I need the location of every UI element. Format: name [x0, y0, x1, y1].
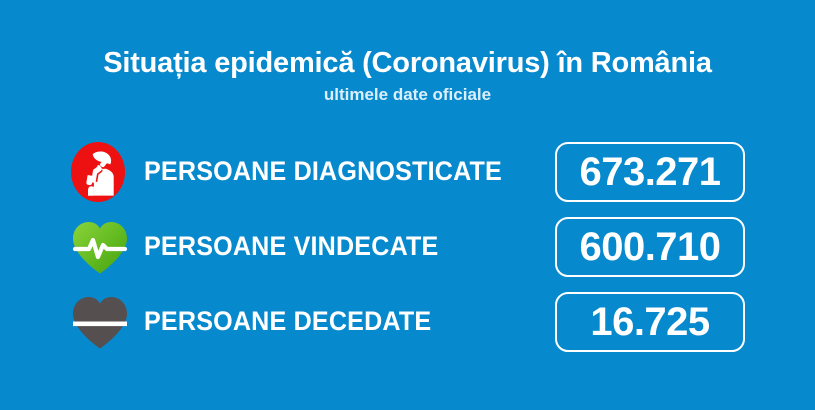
header: Situația epidemică (Coronavirus) în Româ…	[0, 46, 815, 105]
heart-pulse-icon	[70, 216, 144, 278]
stat-row-recovered: PERSOANE VINDECATE 600.710	[70, 209, 745, 284]
page-subtitle: ultimele date oficiale	[0, 85, 815, 105]
stat-value-deceased: 16.725	[590, 302, 709, 342]
sick-person-icon	[70, 141, 144, 203]
stat-label-diagnosed: PERSOANE DIAGNOSTICATE	[144, 156, 526, 187]
stat-value-box-diagnosed: 673.271	[555, 142, 745, 202]
stat-value-diagnosed: 673.271	[579, 152, 720, 192]
stats-list: PERSOANE DIAGNOSTICATE 673.271	[70, 134, 745, 359]
stat-row-deceased: PERSOANE DECEDATE 16.725	[70, 284, 745, 359]
stat-label-recovered: PERSOANE VINDECATE	[144, 231, 526, 262]
stat-value-box-recovered: 600.710	[555, 217, 745, 277]
stat-row-diagnosed: PERSOANE DIAGNOSTICATE 673.271	[70, 134, 745, 209]
page-title: Situația epidemică (Coronavirus) în Româ…	[0, 46, 815, 80]
heart-flatline-icon	[70, 291, 144, 353]
stat-label-deceased: PERSOANE DECEDATE	[144, 306, 526, 337]
infographic-poster: Situația epidemică (Coronavirus) în Româ…	[0, 0, 815, 410]
stat-value-recovered: 600.710	[579, 227, 720, 267]
stat-value-box-deceased: 16.725	[555, 292, 745, 352]
